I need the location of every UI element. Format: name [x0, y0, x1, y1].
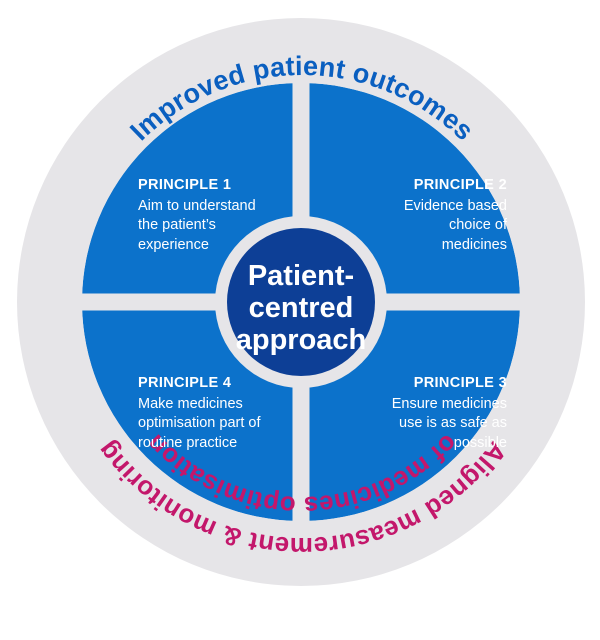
quadrant-principle-1-body-line3: experience: [138, 236, 288, 256]
quadrant-principle-3-body-line1: Ensure medicines: [347, 395, 507, 415]
center-label-line2: centred: [249, 292, 354, 324]
quadrant-principle-1-body-line1: Aim to understand: [138, 197, 288, 217]
quadrant-principle-2: PRINCIPLE 2 Evidence based choice of med…: [355, 176, 507, 255]
center-label-line1: Patient-: [248, 260, 354, 292]
quadrant-principle-4: PRINCIPLE 4 Make medicines optimisation …: [138, 374, 298, 453]
quadrant-principle-2-body-line1: Evidence based: [355, 197, 507, 217]
quadrant-principle-1-body-line2: the patient’s: [138, 216, 288, 236]
center-label-line3: approach: [236, 324, 367, 356]
quadrant-principle-4-body-line1: Make medicines: [138, 395, 298, 415]
quadrant-principle-4-body-line3: routine practice: [138, 434, 298, 454]
quadrant-principle-3-body-line3: possible: [347, 434, 507, 454]
quadrant-principle-2-body-line2: choice of: [355, 216, 507, 236]
quadrant-principle-4-title: PRINCIPLE 4: [138, 374, 298, 394]
quadrant-principle-1: PRINCIPLE 1 Aim to understand the patien…: [138, 176, 288, 255]
quadrant-principle-3-title: PRINCIPLE 3: [347, 374, 507, 394]
quadrant-principle-3: PRINCIPLE 3 Ensure medicines use is as s…: [347, 374, 507, 453]
medicines-optimisation-wheel-diagram: Patient- centred approach Improved patie…: [0, 0, 600, 640]
quadrant-principle-2-body-line3: medicines: [355, 236, 507, 256]
quadrant-principle-1-title: PRINCIPLE 1: [138, 176, 288, 196]
quadrant-principle-2-title: PRINCIPLE 2: [355, 176, 507, 196]
wheel-svg: Patient- centred approach Improved patie…: [0, 0, 600, 640]
quadrant-principle-4-body-line2: optimisation part of: [138, 414, 298, 434]
quadrant-principle-3-body-line2: use is as safe as: [347, 414, 507, 434]
